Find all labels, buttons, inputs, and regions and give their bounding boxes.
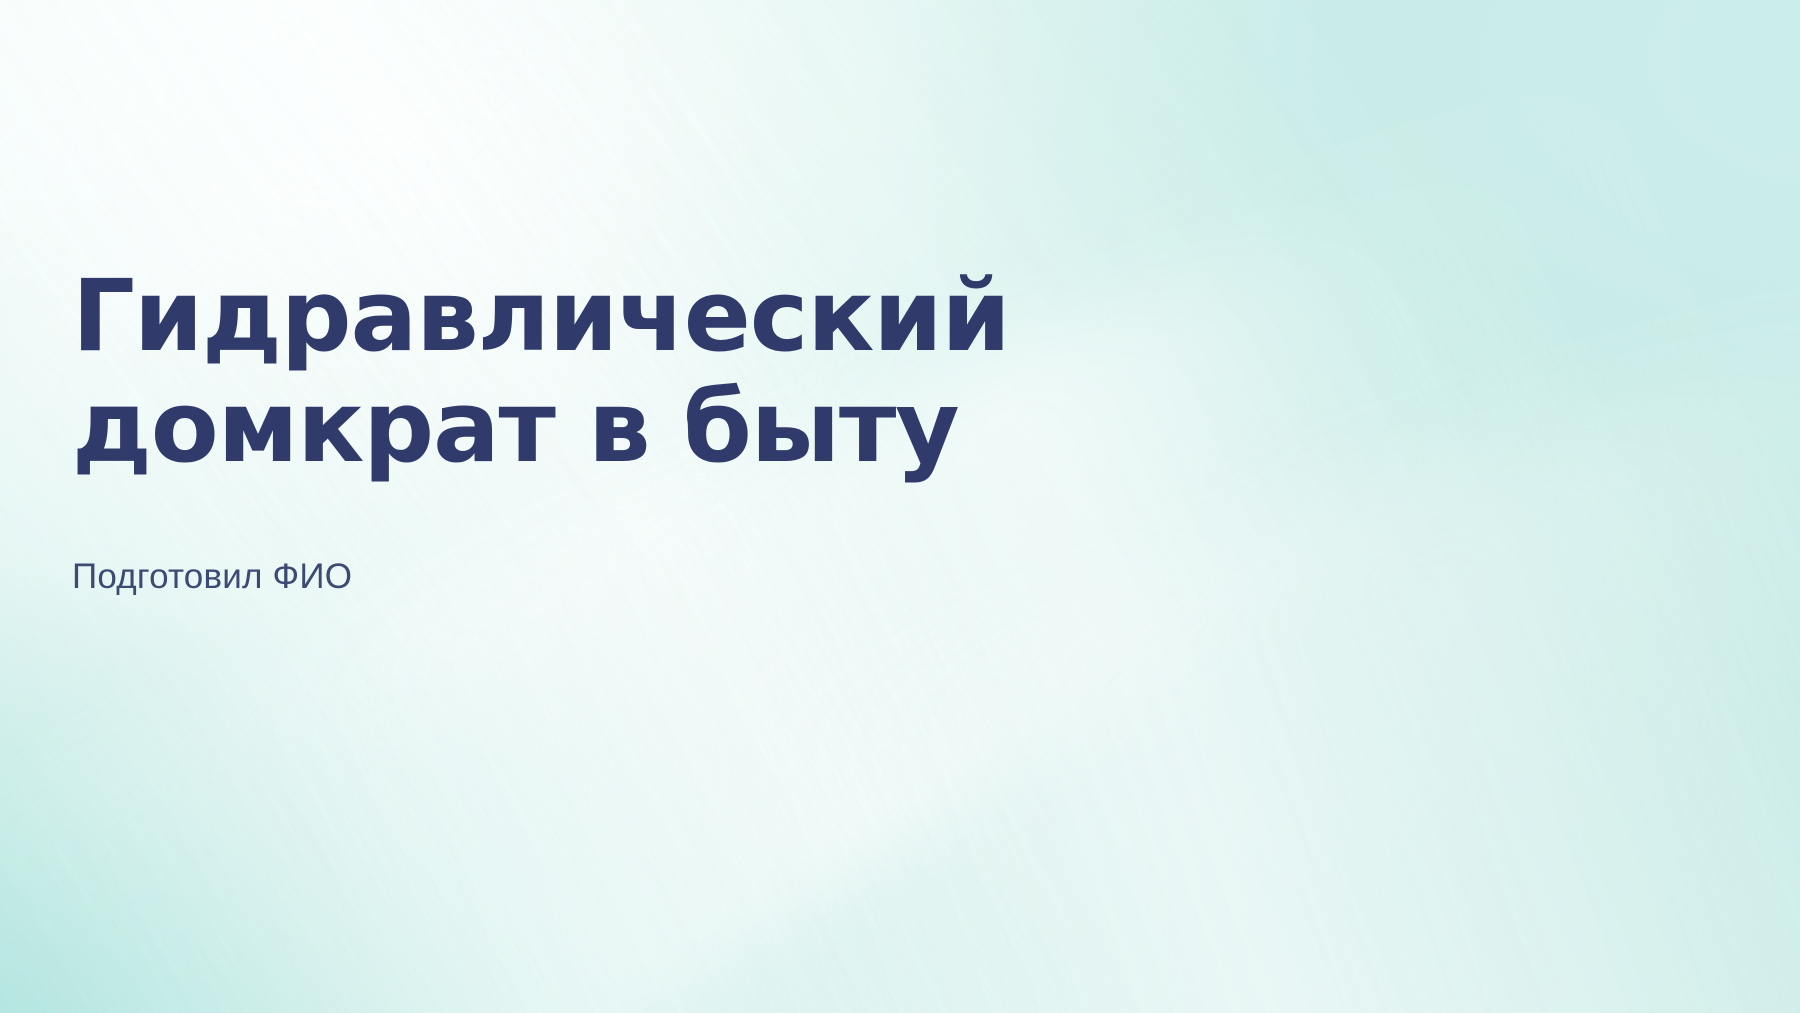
slide-content: Гидравлический домкрат в быту Подготовил… xyxy=(72,262,1172,598)
title-slide: Гидравлический домкрат в быту Подготовил… xyxy=(0,0,1800,1013)
slide-title: Гидравлический домкрат в быту xyxy=(72,262,1172,484)
slide-subtitle-author: Подготовил ФИО xyxy=(72,484,1172,598)
